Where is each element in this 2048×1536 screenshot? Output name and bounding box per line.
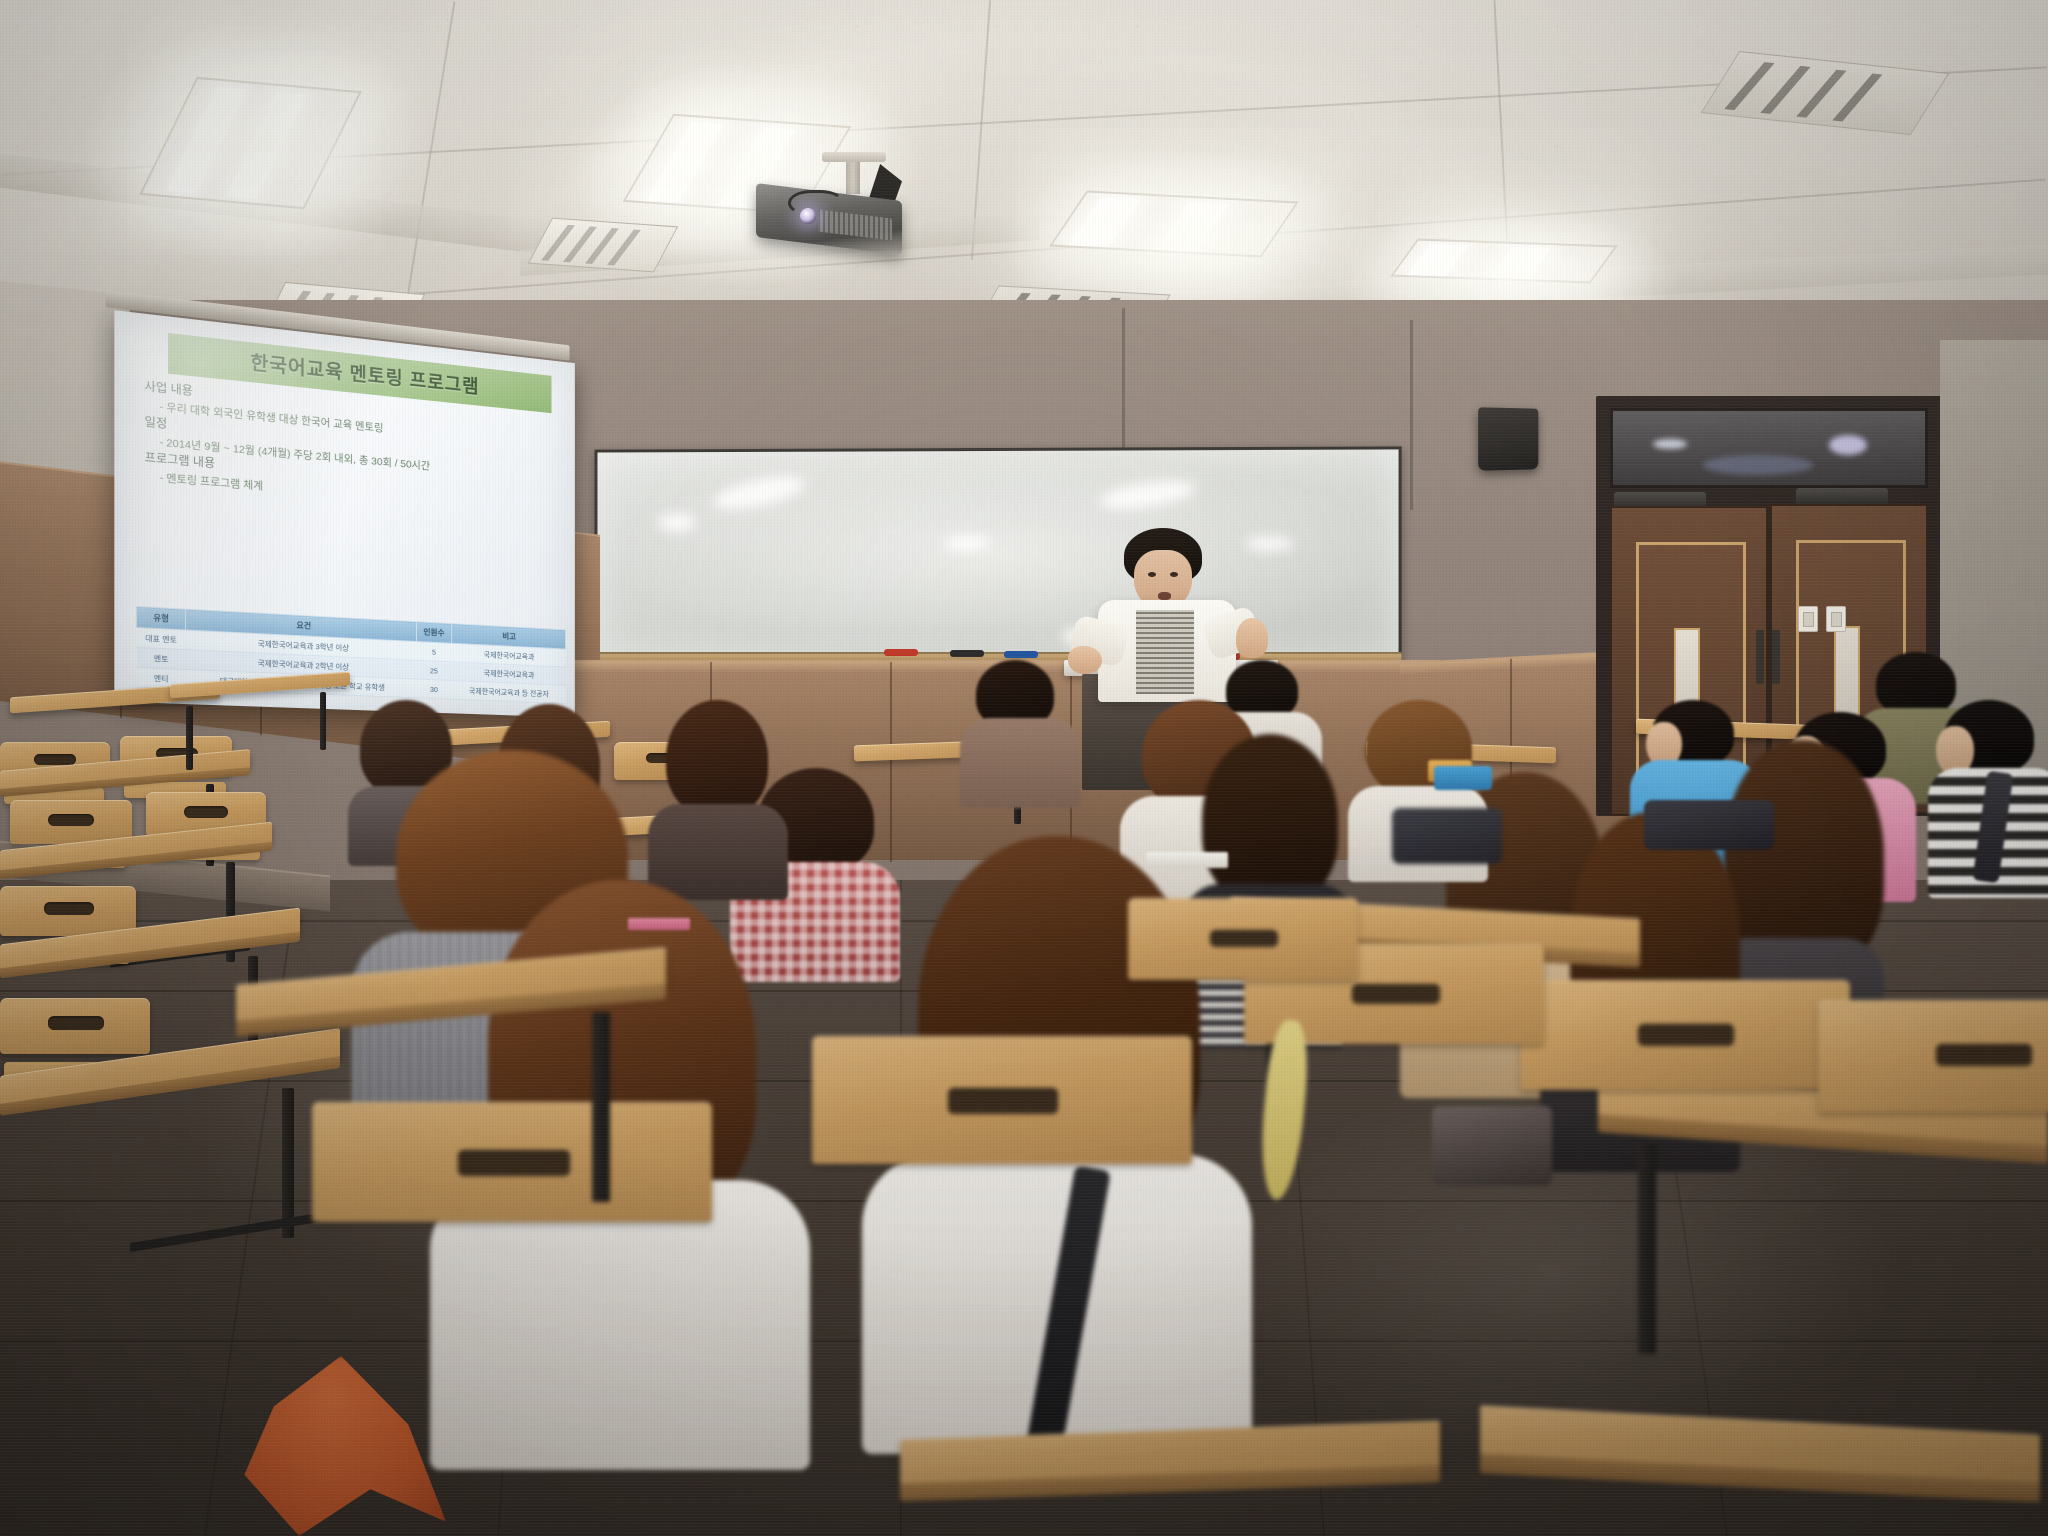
ac-vent xyxy=(528,218,678,273)
presenter-shirt-pattern xyxy=(1136,610,1194,694)
student-chair[interactable] xyxy=(1520,980,1850,1170)
marker-black[interactable] xyxy=(950,650,984,657)
student-desk[interactable] xyxy=(1480,1420,2040,1536)
student-chair[interactable] xyxy=(1128,898,1358,1038)
marker-red[interactable] xyxy=(884,649,918,656)
classroom-photo: 한국어교육 멘토링 프로그램 사업 내용 - 우리 대학 외국인 유학생 대상 … xyxy=(0,0,2048,1536)
student-desk[interactable] xyxy=(236,966,666,1246)
table-cell: 5 xyxy=(416,642,451,662)
student-striped-shirt xyxy=(1928,700,2048,890)
wall-speaker xyxy=(1478,407,1538,471)
paper-sheet xyxy=(1146,852,1228,868)
presentation-slide: 한국어교육 멘토링 프로그램 사업 내용 - 우리 대학 외국인 유학생 대상 … xyxy=(114,310,575,717)
whiteboard-glare xyxy=(658,513,697,531)
wall-seam xyxy=(1410,320,1413,510)
student-desk[interactable] xyxy=(900,1430,1440,1536)
pink-notebook xyxy=(628,918,690,930)
backpack[interactable] xyxy=(1644,800,1774,850)
projection-screen: 한국어교육 멘토링 프로그램 사업 내용 - 우리 대학 외국인 유학생 대상 … xyxy=(114,310,575,717)
table-cell: 25 xyxy=(416,660,451,680)
laptop-bag[interactable] xyxy=(1392,808,1502,864)
marker-blue[interactable] xyxy=(1004,651,1038,658)
ceiling-light-fixture xyxy=(1049,190,1299,257)
table-header-cell: 인원수 xyxy=(416,622,451,643)
light-switch[interactable] xyxy=(1798,606,1818,632)
door-transom-window xyxy=(1610,408,1928,488)
table-cell: 국제한국어교육과 등 전공자 xyxy=(451,680,565,703)
whiteboard xyxy=(595,446,1402,661)
ceiling-projector xyxy=(742,168,962,278)
blue-object xyxy=(1434,766,1492,790)
door-handle[interactable] xyxy=(1756,630,1764,684)
table-cell: 멘토 xyxy=(136,647,185,669)
handbag[interactable] xyxy=(1432,1106,1552,1186)
light-switch[interactable] xyxy=(1826,606,1846,632)
presenter-right-hand xyxy=(1236,618,1268,658)
table-cell: 대표 멘토 xyxy=(136,628,185,650)
student-chair[interactable] xyxy=(812,1036,1192,1246)
table-cell: 30 xyxy=(416,679,451,699)
table-header-cell: 유형 xyxy=(136,607,185,630)
student-desk[interactable] xyxy=(170,678,350,758)
student-back-left xyxy=(960,660,1080,800)
ceiling-light-fixture xyxy=(1390,239,1618,284)
whiteboard-glare xyxy=(943,535,991,551)
door-handle[interactable] xyxy=(1772,630,1780,684)
student-chair[interactable] xyxy=(1818,1000,2048,1190)
